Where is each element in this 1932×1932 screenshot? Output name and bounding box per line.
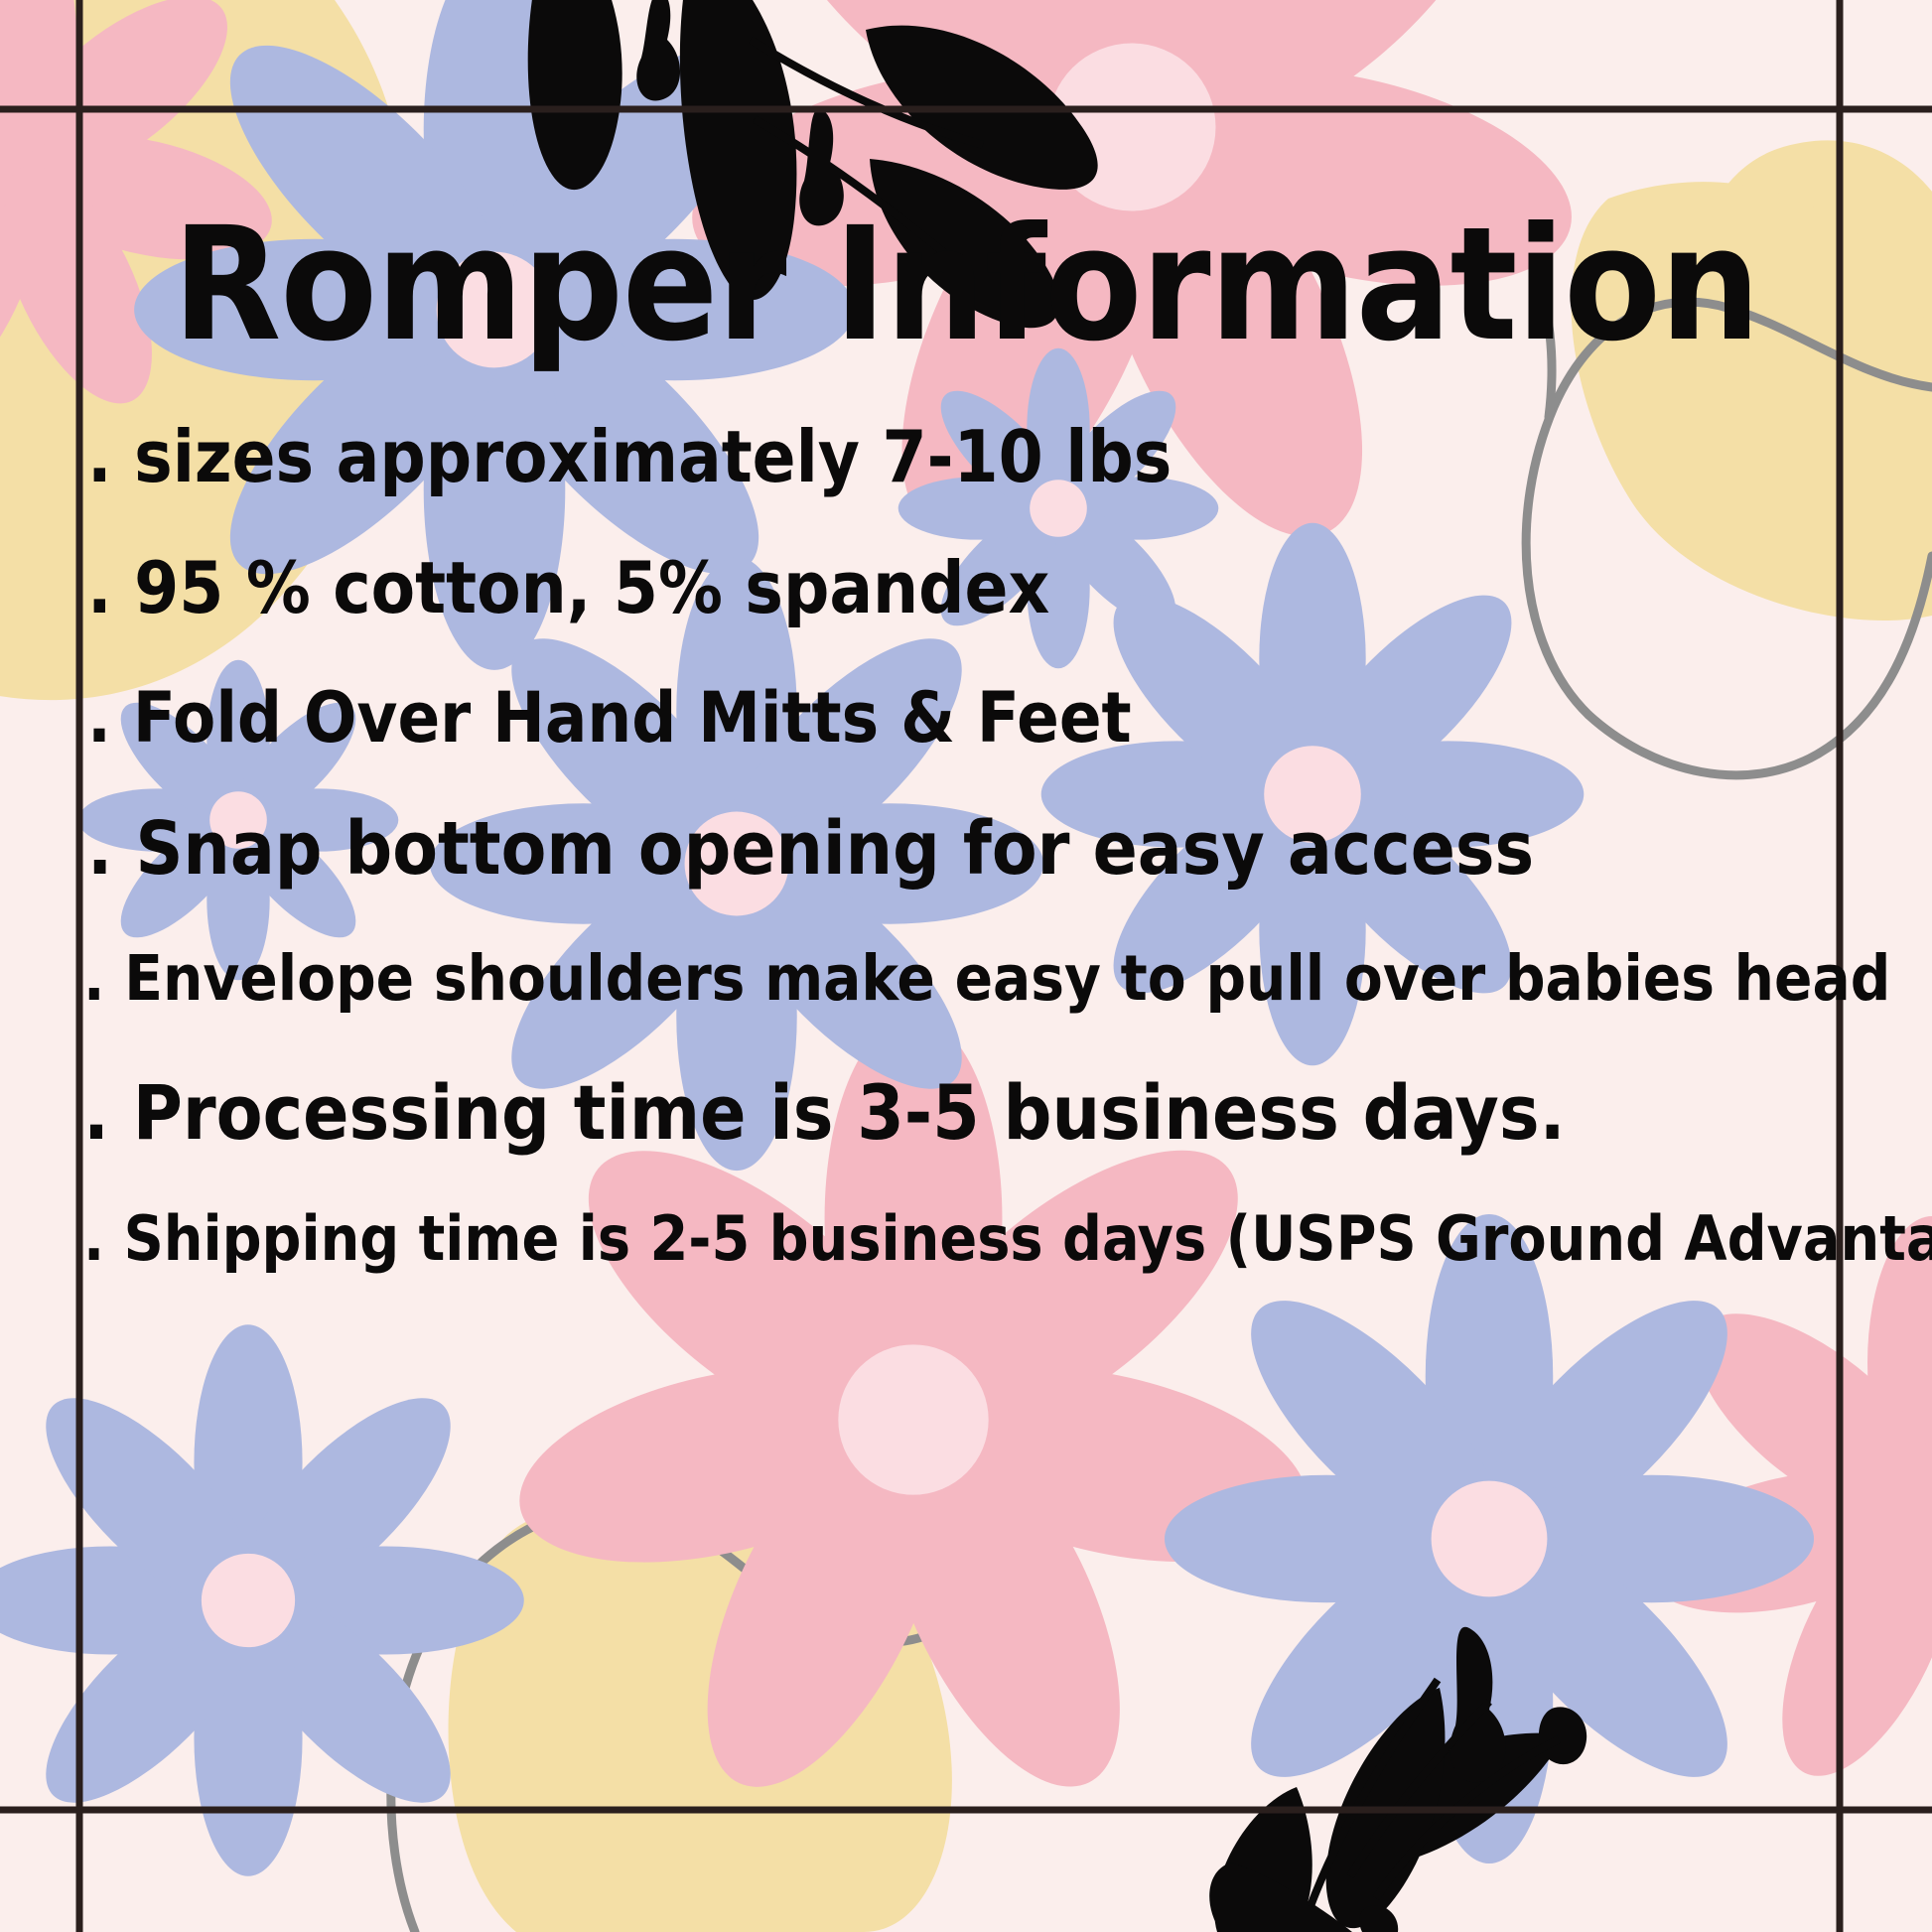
- list-item: . Processing time is 3-5 business days.: [83, 1075, 1866, 1151]
- bullet-marker: .: [87, 677, 111, 759]
- list-item: . Fold Over Hand Mitts & Feet: [87, 683, 1866, 753]
- bullet-marker: .: [83, 942, 105, 1015]
- bullet-marker: .: [87, 415, 112, 498]
- list-item: . 95 % cotton, 5% spandex: [87, 552, 1866, 623]
- bullet-text: Envelope shoulders make easy to pull ove…: [124, 942, 1890, 1015]
- info-bullet-list: . sizes approximately 7-10 lbs . 95 % co…: [79, 421, 1866, 1270]
- poster-canvas: Romper Information . sizes approximately…: [0, 0, 1932, 1932]
- list-item: . Snap bottom opening for easy access: [87, 812, 1866, 886]
- bullet-text: Processing time is 3-5 business days.: [133, 1068, 1566, 1157]
- list-item: . Shipping time is 2-5 business days (US…: [83, 1208, 1866, 1270]
- bullet-text: Shipping time is 2-5 business days (USPS…: [124, 1202, 1932, 1275]
- bullet-marker: .: [87, 806, 112, 892]
- bullet-marker: .: [87, 546, 112, 629]
- bullet-text: 95 % cotton, 5% spandex: [134, 546, 1049, 629]
- page-title: Romper Information: [0, 207, 1932, 363]
- bullet-marker: .: [83, 1068, 109, 1157]
- bullet-text: sizes approximately 7-10 lbs: [134, 415, 1172, 498]
- list-item: . sizes approximately 7-10 lbs: [87, 421, 1866, 492]
- bullet-text: Fold Over Hand Mitts & Feet: [133, 677, 1132, 759]
- bullet-text: Snap bottom opening for easy access: [135, 806, 1534, 892]
- list-item: . Envelope shoulders make easy to pull o…: [83, 947, 1866, 1010]
- bullet-marker: .: [83, 1202, 104, 1275]
